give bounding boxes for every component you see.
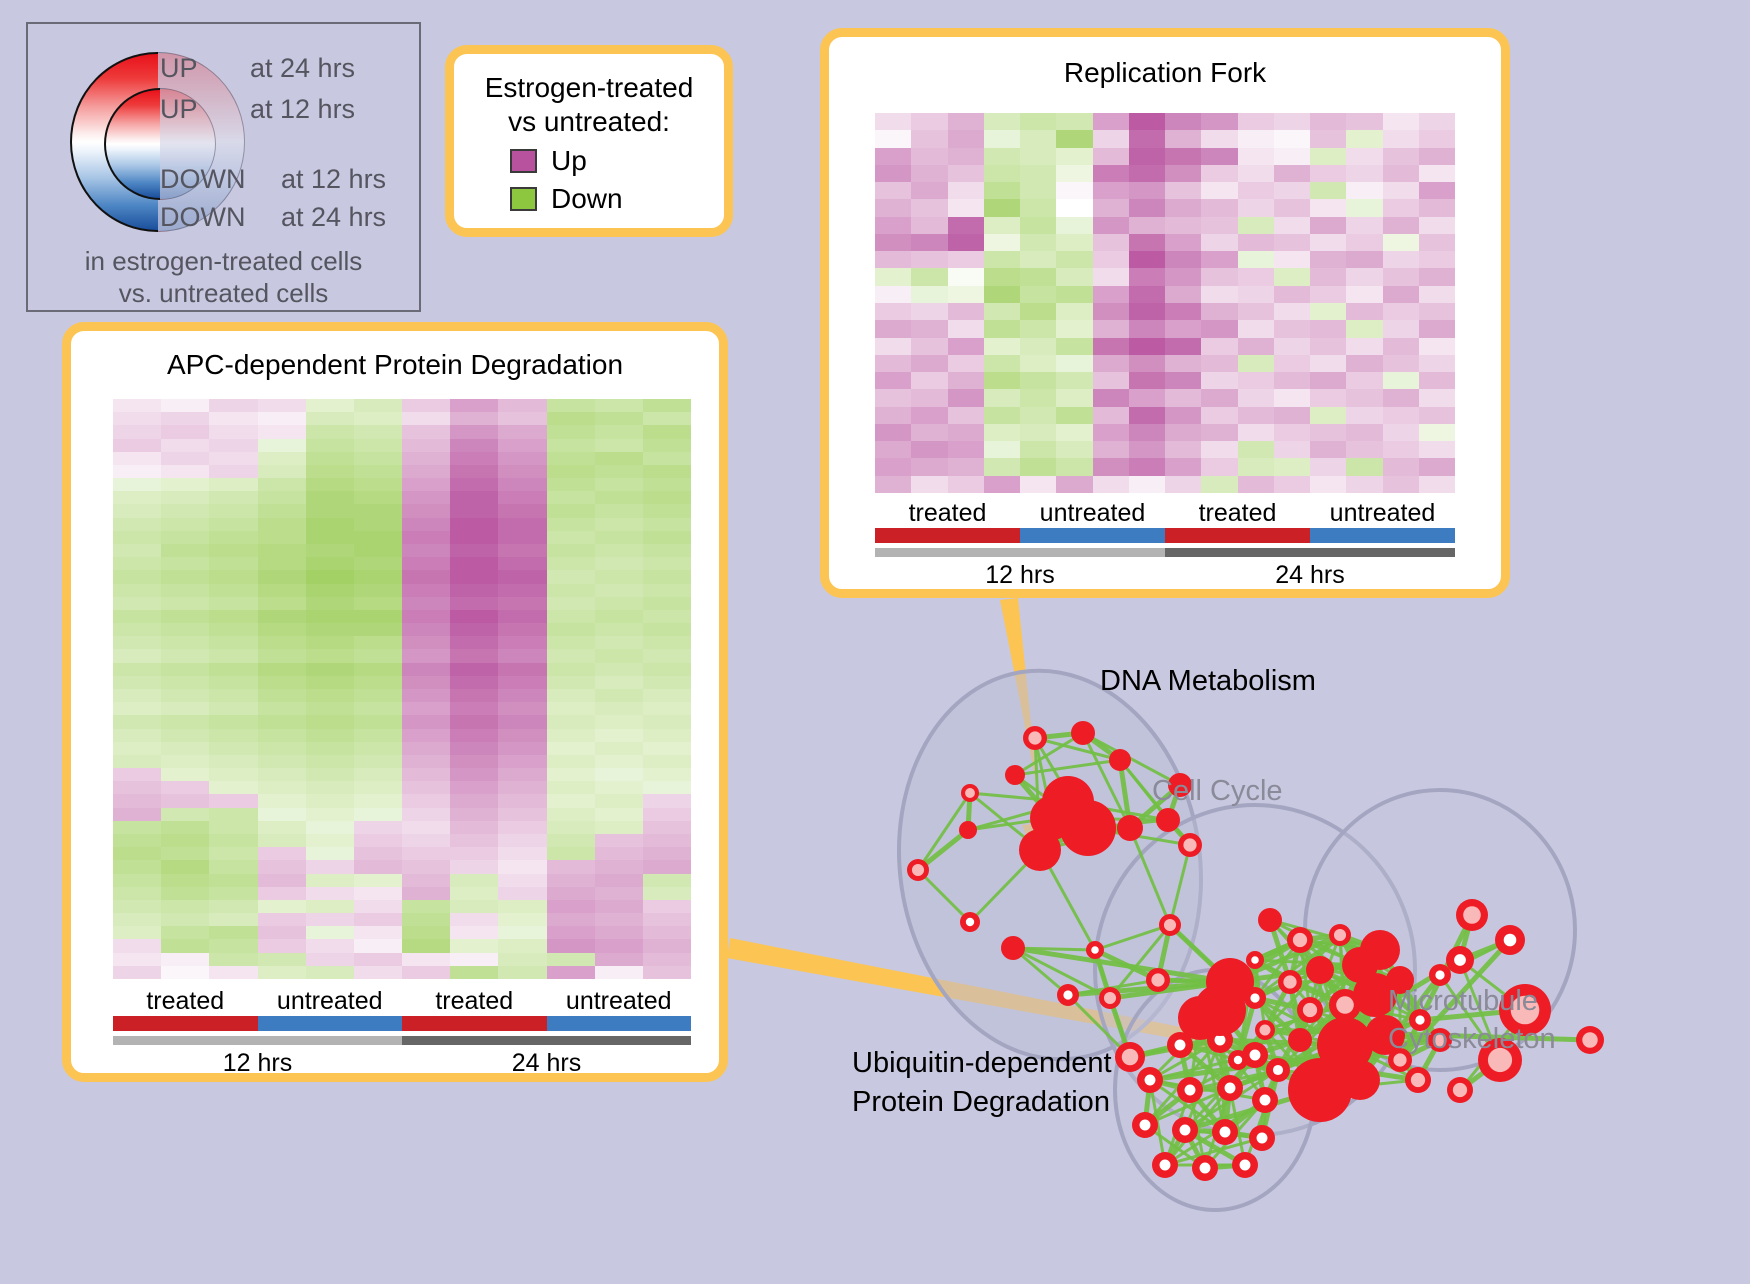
heatmap-cell: [1383, 476, 1419, 493]
heatmap-cell: [595, 715, 643, 728]
heatmap-cell: [984, 251, 1020, 268]
heatmap-cell: [595, 755, 643, 768]
heatmap-cell: [354, 900, 402, 913]
heatmap-cell: [450, 900, 498, 913]
heatmap-cell: [161, 742, 209, 755]
heatmap-cell: [354, 781, 402, 794]
heatmap-cell: [547, 504, 595, 517]
heatmap-cell: [209, 860, 257, 873]
heatmap-cell: [595, 953, 643, 966]
heatmap-cell: [498, 729, 546, 742]
heatmap-cell: [1056, 286, 1092, 303]
heatmap-cell: [258, 518, 306, 531]
heatmap-cell: [1238, 182, 1274, 199]
heatmap-cell: [595, 821, 643, 834]
heatmap-cell: [450, 808, 498, 821]
heatmap-cell: [643, 636, 691, 649]
network-node-core: [1504, 934, 1517, 947]
heatmap-cell: [113, 623, 161, 636]
heatmap-cell: [547, 887, 595, 900]
network-node-core: [1303, 1003, 1317, 1017]
heatmap-cell: [875, 458, 911, 475]
heatmap-cell: [1165, 234, 1201, 251]
heatmap-cell: [113, 504, 161, 517]
heatmap-cell: [1238, 268, 1274, 285]
heatmap-cell: [948, 113, 984, 130]
heatmap-cell: [1383, 148, 1419, 165]
heatmap-cell: [911, 338, 947, 355]
heatmap-cell: [498, 597, 546, 610]
heatmap-cell: [498, 834, 546, 847]
heatmap-cell: [547, 900, 595, 913]
heatmap-cell: [1093, 199, 1129, 216]
heatmap-cell: [547, 439, 595, 452]
heatmap-cell: [450, 504, 498, 517]
heatmap-cell: [1238, 338, 1274, 355]
heatmap-cell: [402, 544, 450, 557]
heatmap-cell: [595, 808, 643, 821]
heatmap-cell: [1020, 286, 1056, 303]
heatmap-cell: [1093, 217, 1129, 234]
heatmap-cell: [450, 953, 498, 966]
heatmap-cell: [1201, 234, 1237, 251]
heatmap-cell: [1165, 251, 1201, 268]
heatmap-cell: [1056, 165, 1092, 182]
heatmap-cell: [450, 702, 498, 715]
heatmap-cell: [1165, 113, 1201, 130]
heatmap-cell: [1383, 113, 1419, 130]
heatmap-cell: [643, 755, 691, 768]
heatmap-cell: [209, 557, 257, 570]
network-node-core: [1435, 970, 1444, 979]
heatmap-cell: [875, 130, 911, 147]
heatmap-cell: [1419, 372, 1455, 389]
heatmap-cell: [1274, 217, 1310, 234]
heatmap-cell: [209, 953, 257, 966]
heatmap-cell: [209, 742, 257, 755]
heatmap-cell: [450, 768, 498, 781]
heatmap-cell: [1238, 372, 1274, 389]
heatmap-cell: [1346, 407, 1382, 424]
heatmap-cell: [911, 441, 947, 458]
heatmap-cell: [547, 755, 595, 768]
heatmap-cell: [402, 478, 450, 491]
heatmap-cell: [402, 597, 450, 610]
network-node-core: [1283, 975, 1296, 988]
group-label-1: untreated: [258, 987, 403, 1016]
heatmap-cell: [547, 518, 595, 531]
heatmap-cell: [1310, 234, 1346, 251]
heatmap-cell: [1383, 286, 1419, 303]
heatmap-cell: [875, 251, 911, 268]
heatmap-cell: [258, 425, 306, 438]
cluster-label-ubiquitin-line1: Ubiquitin-dependent: [852, 1047, 1112, 1080]
heatmap-cell: [498, 518, 546, 531]
heatmap-cell: [547, 953, 595, 966]
heatmap-cell: [402, 755, 450, 768]
heatmap-cell: [1020, 182, 1056, 199]
heatmap-cell: [911, 268, 947, 285]
heatmap-cell: [450, 518, 498, 531]
heatmap-cell: [354, 715, 402, 728]
heatmap-cell: [595, 491, 643, 504]
heatmap-cell: [1238, 148, 1274, 165]
heatmap-cell: [1238, 303, 1274, 320]
heatmap-cell: [643, 887, 691, 900]
network-node-core: [1200, 1163, 1211, 1174]
heatmap-cell: [1129, 338, 1165, 355]
heatmap-cell: [547, 781, 595, 794]
heatmap-cell: [643, 900, 691, 913]
heatmap-cell: [450, 939, 498, 952]
heatmap-cell: [354, 755, 402, 768]
heatmap-cell: [1020, 268, 1056, 285]
heatmap-cell: [1201, 320, 1237, 337]
heatmap-cell: [113, 755, 161, 768]
heatmap-cell: [354, 966, 402, 979]
heatmap-cell: [498, 702, 546, 715]
heatmap-cell: [984, 458, 1020, 475]
treatment-segment-2: [1165, 528, 1310, 543]
network-node-core: [1251, 956, 1259, 964]
heatmap-cell: [113, 649, 161, 662]
heatmap-cell: [1383, 458, 1419, 475]
heatmap-cell: [306, 504, 354, 517]
heatmap-cell: [1093, 182, 1129, 199]
heatmap-cell: [643, 834, 691, 847]
heatmap-cell: [258, 531, 306, 544]
heatmap-cell: [1020, 234, 1056, 251]
heatmap-cell: [911, 113, 947, 130]
legend-row-up-12-label: UP: [160, 94, 198, 125]
time-label-1: 24 hrs: [1165, 561, 1455, 590]
heatmap-cell: [1383, 355, 1419, 372]
heatmap-cell: [643, 439, 691, 452]
heatmap-cell: [450, 597, 498, 610]
heatmap-cell: [450, 452, 498, 465]
heatmap-cell: [1056, 372, 1092, 389]
heatmap-cell: [113, 702, 161, 715]
heatmap-cell: [911, 286, 947, 303]
heatmap-cell: [984, 217, 1020, 234]
heatmap-cell: [1129, 217, 1165, 234]
heatmap-cell: [595, 887, 643, 900]
heatmap-cell: [1129, 165, 1165, 182]
network-node-core: [1028, 731, 1041, 744]
replication-fork-panel: Replication Fork treated untreated treat…: [820, 28, 1510, 598]
heatmap-cell: [1238, 165, 1274, 182]
heatmap-cell: [1310, 476, 1346, 493]
heatmap-cell: [450, 623, 498, 636]
heatmap-cell: [595, 439, 643, 452]
heatmap-cell: [1274, 389, 1310, 406]
heatmap-cell: [498, 887, 546, 900]
heatmap-cell: [1165, 407, 1201, 424]
heatmap-cell: [113, 478, 161, 491]
heatmap-cell: [161, 768, 209, 781]
heatmap-cell: [1056, 199, 1092, 216]
heatmap-cell: [875, 389, 911, 406]
legend-row-up-24-label: UP: [160, 53, 198, 84]
heatmap-cell: [450, 742, 498, 755]
heatmap-cell: [1093, 355, 1129, 372]
heatmap-cell: [1238, 113, 1274, 130]
heatmap-cell: [948, 355, 984, 372]
heatmap-cell: [258, 597, 306, 610]
heatmap-cell: [911, 476, 947, 493]
heatmap-cell: [498, 399, 546, 412]
network-node: [1194, 984, 1246, 1036]
treatment-segment-1: [258, 1016, 403, 1031]
heatmap-cell: [1274, 372, 1310, 389]
heatmap-cell: [547, 465, 595, 478]
heatmap-cell: [209, 465, 257, 478]
heatmap-cell: [354, 452, 402, 465]
network-node-core: [1151, 973, 1164, 986]
heatmap-cell: [595, 504, 643, 517]
heatmap-cell: [875, 338, 911, 355]
heatmap-cell: [161, 425, 209, 438]
heatmap-cell: [113, 425, 161, 438]
heatmap-cell: [209, 584, 257, 597]
heatmap-cell: [209, 821, 257, 834]
heatmap-cell: [498, 913, 546, 926]
heatmap-cell: [1056, 268, 1092, 285]
network-node-core: [1160, 1160, 1171, 1171]
heatmap-cell: [1129, 148, 1165, 165]
heatmap-cell: [402, 742, 450, 755]
heatmap-cell: [643, 557, 691, 570]
heatmap-cell: [948, 458, 984, 475]
heatmap-cell: [258, 900, 306, 913]
heatmap-cell: [1129, 389, 1165, 406]
apc-panel-title: APC-dependent Protein Degradation: [71, 349, 719, 381]
heatmap-cell: [113, 544, 161, 557]
heatmap-cell: [1165, 286, 1201, 303]
heatmap-cell: [161, 649, 209, 662]
heatmap-cell: [498, 781, 546, 794]
heatmap-cell: [258, 636, 306, 649]
heatmap-cell: [1274, 182, 1310, 199]
heatmap-cell: [1129, 268, 1165, 285]
heatmap-cell: [1274, 148, 1310, 165]
heatmap-cell: [209, 900, 257, 913]
heatmap-cell: [402, 676, 450, 689]
heatmap-cell: [161, 834, 209, 847]
heatmap-cell: [595, 794, 643, 807]
heatmap-cell: [984, 165, 1020, 182]
heatmap-cell: [948, 217, 984, 234]
heatmap-cell: [450, 676, 498, 689]
heatmap-cell: [498, 663, 546, 676]
heatmap-cell: [1093, 130, 1129, 147]
heatmap-cell: [1238, 217, 1274, 234]
heatmap-cell: [1310, 113, 1346, 130]
heatmap-cell: [911, 199, 947, 216]
time-label-0: 12 hrs: [113, 1049, 402, 1078]
heatmap-cell: [643, 491, 691, 504]
heatmap-cell: [209, 544, 257, 557]
heatmap-cell: [1238, 286, 1274, 303]
group-label-1: untreated: [1020, 499, 1165, 528]
estrogen-legend-card: Estrogen-treated vs untreated: Up Down: [445, 45, 733, 237]
heatmap-cell: [402, 452, 450, 465]
heatmap-cell: [306, 689, 354, 702]
heatmap-cell: [1020, 165, 1056, 182]
heatmap-cell: [1056, 113, 1092, 130]
heatmap-cell: [547, 847, 595, 860]
heatmap-cell: [1274, 113, 1310, 130]
heatmap-cell: [306, 623, 354, 636]
heatmap-cell: [402, 926, 450, 939]
heatmap-cell: [402, 557, 450, 570]
heatmap-cell: [1201, 458, 1237, 475]
heatmap-cell: [258, 663, 306, 676]
up-color-swatch: [510, 149, 537, 173]
heatmap-cell: [1129, 372, 1165, 389]
heatmap-cell: [402, 834, 450, 847]
heatmap-cell: [498, 689, 546, 702]
heatmap-cell: [209, 755, 257, 768]
heatmap-cell: [209, 491, 257, 504]
heatmap-cell: [209, 518, 257, 531]
heatmap-cell: [161, 821, 209, 834]
heatmap-cell: [875, 320, 911, 337]
heatmap-cell: [402, 689, 450, 702]
heatmap-cell: [948, 234, 984, 251]
heatmap-cell: [1346, 217, 1382, 234]
heatmap-cell: [306, 425, 354, 438]
heatmap-cell: [258, 834, 306, 847]
heatmap-cell: [911, 251, 947, 268]
network-node-core: [1336, 996, 1354, 1014]
replication-group-labels: treated untreated treated untreated: [875, 499, 1455, 528]
heatmap-cell: [1129, 113, 1165, 130]
heatmap-cell: [306, 808, 354, 821]
network-node-core: [1411, 1073, 1425, 1087]
heatmap-cell: [547, 623, 595, 636]
heatmap-cell: [113, 491, 161, 504]
heatmap-cell: [1129, 320, 1165, 337]
heatmap-cell: [306, 452, 354, 465]
heatmap-cell: [161, 847, 209, 860]
heatmap-cell: [643, 504, 691, 517]
heatmap-cell: [1383, 424, 1419, 441]
heatmap-cell: [161, 808, 209, 821]
heatmap-cell: [306, 439, 354, 452]
network-node: [1156, 808, 1180, 832]
heatmap-cell: [113, 768, 161, 781]
network-node: [1288, 1058, 1352, 1122]
heatmap-cell: [113, 926, 161, 939]
heatmap-cell: [209, 531, 257, 544]
heatmap-cell: [911, 303, 947, 320]
heatmap-cell: [547, 557, 595, 570]
heatmap-cell: [161, 518, 209, 531]
heatmap-cell: [306, 781, 354, 794]
heatmap-cell: [450, 755, 498, 768]
network-node: [1005, 765, 1025, 785]
estrogen-legend-title-line2: vs untreated:: [454, 105, 724, 139]
heatmap-cell: [450, 966, 498, 979]
group-label-0: treated: [875, 499, 1020, 528]
heatmap-cell: [209, 649, 257, 662]
heatmap-cell: [113, 557, 161, 570]
heatmap-cell: [595, 649, 643, 662]
heatmap-cell: [306, 544, 354, 557]
heatmap-cell: [1056, 407, 1092, 424]
heatmap-cell: [402, 702, 450, 715]
heatmap-cell: [258, 504, 306, 517]
replication-panel-title: Replication Fork: [829, 57, 1501, 89]
heatmap-cell: [498, 452, 546, 465]
heatmap-cell: [595, 597, 643, 610]
heatmap-cell: [1238, 251, 1274, 268]
heatmap-cell: [402, 491, 450, 504]
cluster-label-cell-cycle: Cell Cycle: [1152, 775, 1283, 808]
heatmap-cell: [1165, 217, 1201, 234]
heatmap-cell: [875, 113, 911, 130]
heatmap-cell: [306, 478, 354, 491]
heatmap-cell: [450, 663, 498, 676]
network-node-core: [1582, 1032, 1597, 1047]
network-node: [1071, 721, 1095, 745]
heatmap-cell: [450, 478, 498, 491]
heatmap-cell: [643, 531, 691, 544]
legend-row-up-12-time: at 12 hrs: [250, 94, 355, 125]
heatmap-cell: [1383, 130, 1419, 147]
heatmap-cell: [547, 729, 595, 742]
heatmap-cell: [1238, 355, 1274, 372]
heatmap-cell: [595, 729, 643, 742]
heatmap-cell: [113, 465, 161, 478]
heatmap-cell: [258, 821, 306, 834]
heatmap-cell: [1419, 338, 1455, 355]
heatmap-cell: [258, 742, 306, 755]
heatmap-cell: [1419, 424, 1455, 441]
heatmap-cell: [354, 794, 402, 807]
heatmap-cell: [402, 584, 450, 597]
heatmap-cell: [113, 531, 161, 544]
heatmap-cell: [984, 130, 1020, 147]
heatmap-cell: [1383, 320, 1419, 337]
heatmap-cell: [547, 689, 595, 702]
time-segment-1: [1165, 548, 1455, 557]
heatmap-cell: [354, 504, 402, 517]
heatmap-cell: [450, 610, 498, 623]
heatmap-cell: [450, 491, 498, 504]
heatmap-cell: [1419, 355, 1455, 372]
heatmap-cell: [498, 491, 546, 504]
heatmap-cell: [984, 338, 1020, 355]
heatmap-cell: [643, 821, 691, 834]
treatment-segment-3: [547, 1016, 692, 1031]
heatmap-cell: [547, 676, 595, 689]
heatmap-cell: [1165, 355, 1201, 372]
heatmap-cell: [161, 452, 209, 465]
heatmap-cell: [595, 689, 643, 702]
heatmap-cell: [450, 544, 498, 557]
network-node-core: [1260, 1025, 1271, 1036]
heatmap-cell: [354, 860, 402, 873]
heatmap-cell: [1020, 441, 1056, 458]
treatment-segment-3: [1310, 528, 1455, 543]
cluster-label-ubiquitin-line2: Protein Degradation: [852, 1086, 1110, 1119]
heatmap-cell: [209, 425, 257, 438]
heatmap-cell: [402, 663, 450, 676]
heatmap-cell: [1165, 148, 1201, 165]
heatmap-cell: [209, 834, 257, 847]
